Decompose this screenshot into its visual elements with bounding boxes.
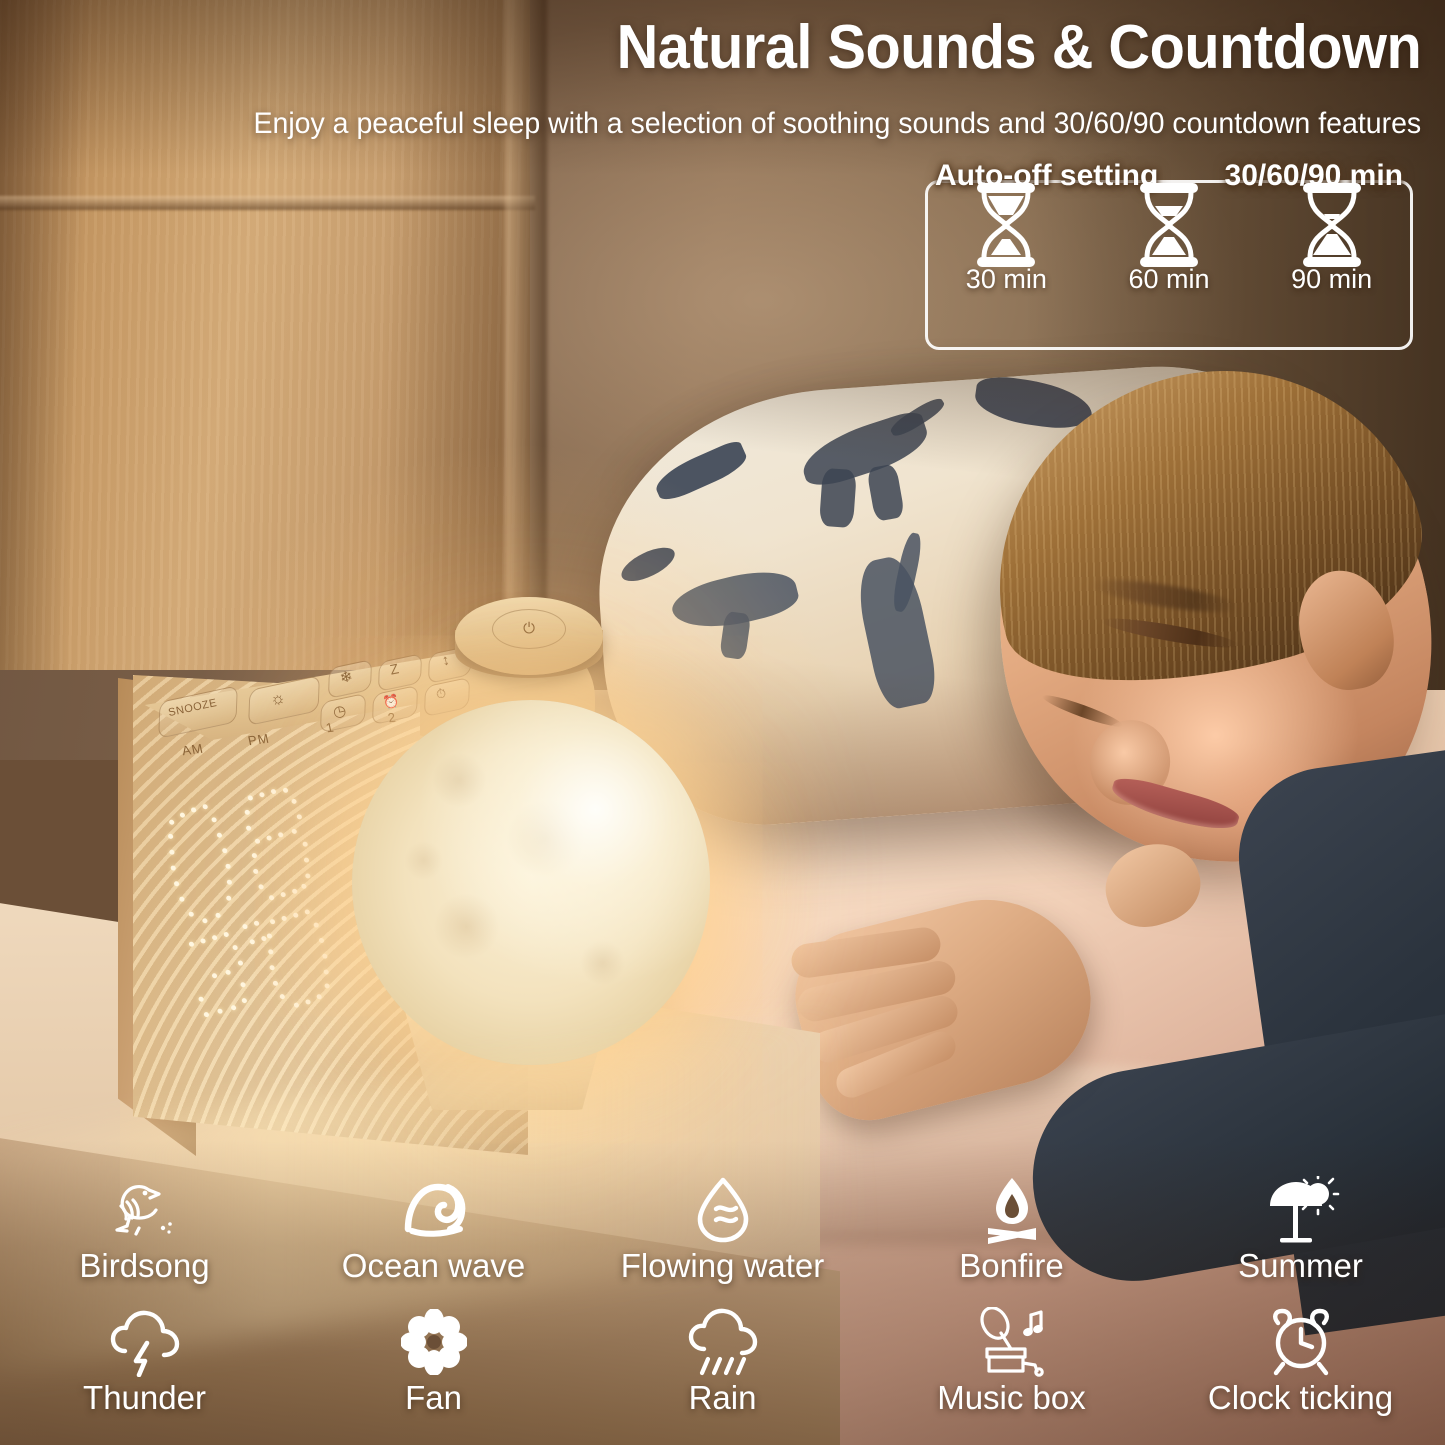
auto-off-label: Auto-off setting <box>929 159 1164 193</box>
water-drop-icon <box>690 1175 756 1245</box>
fan-flower-icon <box>401 1307 467 1377</box>
sound-option-flowing-water[interactable]: Flowing water <box>578 1175 867 1285</box>
sound-label-birdsong: Birdsong <box>79 1247 209 1285</box>
page-title: Natural Sounds & Countdown <box>616 12 1421 83</box>
product-marketing-image: SNOOZE ☼ ❄ Z ↕ ◷ ⏰ ⏱ ⏻ AM PM 1 2 <box>0 0 1445 1445</box>
headboard-seam <box>0 196 535 210</box>
sound-options-grid: Birdsong Ocean wave <box>0 1175 1445 1445</box>
sound-option-music-box[interactable]: Music box <box>867 1307 1156 1417</box>
sound-label-music-box: Music box <box>937 1379 1086 1417</box>
sound-label-bonfire: Bonfire <box>959 1247 1064 1285</box>
power-knob-icon: ⏻ <box>518 620 540 638</box>
sound-row-2: Thunder <box>0 1307 1445 1417</box>
timer-option-90[interactable]: 90 min <box>1262 190 1402 295</box>
sound-row-1: Birdsong Ocean wave <box>0 1175 1445 1285</box>
bird-icon <box>103 1175 187 1245</box>
sound-option-thunder[interactable]: Thunder <box>0 1307 289 1417</box>
timer-label-60: 60 min <box>1128 264 1209 295</box>
wooden-headboard <box>0 0 530 670</box>
sound-option-clock-ticking[interactable]: Clock ticking <box>1156 1307 1445 1417</box>
alarm-clock-icon <box>1265 1307 1337 1377</box>
hourglass-icon <box>1297 190 1367 260</box>
timer-label-90: 90 min <box>1291 264 1372 295</box>
sound-option-bonfire[interactable]: Bonfire <box>867 1175 1156 1285</box>
sound-label-rain: Rain <box>689 1379 757 1417</box>
timer-option-60[interactable]: 60 min <box>1099 190 1239 295</box>
sound-label-ocean-wave: Ocean wave <box>342 1247 525 1285</box>
sound-option-birdsong[interactable]: Birdsong <box>0 1175 289 1285</box>
thunder-cloud-icon <box>109 1307 181 1377</box>
headboard-edge <box>505 0 547 680</box>
hourglass-icon <box>1134 190 1204 260</box>
beach-umbrella-sun-icon <box>1262 1175 1340 1245</box>
sound-option-fan[interactable]: Fan <box>289 1307 578 1417</box>
pm-indicator: PM <box>246 731 271 748</box>
sound-label-summer: Summer <box>1238 1247 1363 1285</box>
sound-label-flowing-water: Flowing water <box>621 1247 825 1285</box>
gramophone-icon <box>973 1307 1051 1377</box>
auto-off-timer-row: 30 min 60 min <box>925 190 1413 345</box>
rain-cloud-icon <box>686 1307 760 1377</box>
timer-label-30: 30 min <box>966 264 1047 295</box>
am-indicator: AM <box>180 741 205 758</box>
sound-label-thunder: Thunder <box>83 1379 206 1417</box>
hourglass-icon <box>971 190 1041 260</box>
ocean-wave-icon <box>394 1175 474 1245</box>
moon-lamp[interactable] <box>352 700 722 1100</box>
sound-label-clock-ticking: Clock ticking <box>1208 1379 1393 1417</box>
sound-label-fan: Fan <box>405 1379 462 1417</box>
bonfire-icon <box>978 1175 1046 1245</box>
timer-option-30[interactable]: 30 min <box>936 190 1076 295</box>
sound-option-rain[interactable]: Rain <box>578 1307 867 1417</box>
sound-option-summer[interactable]: Summer <box>1156 1175 1445 1285</box>
page-subtitle: Enjoy a peaceful sleep with a selection … <box>253 107 1421 141</box>
sound-option-ocean-wave[interactable]: Ocean wave <box>289 1175 578 1285</box>
moon-sphere <box>352 700 710 1065</box>
